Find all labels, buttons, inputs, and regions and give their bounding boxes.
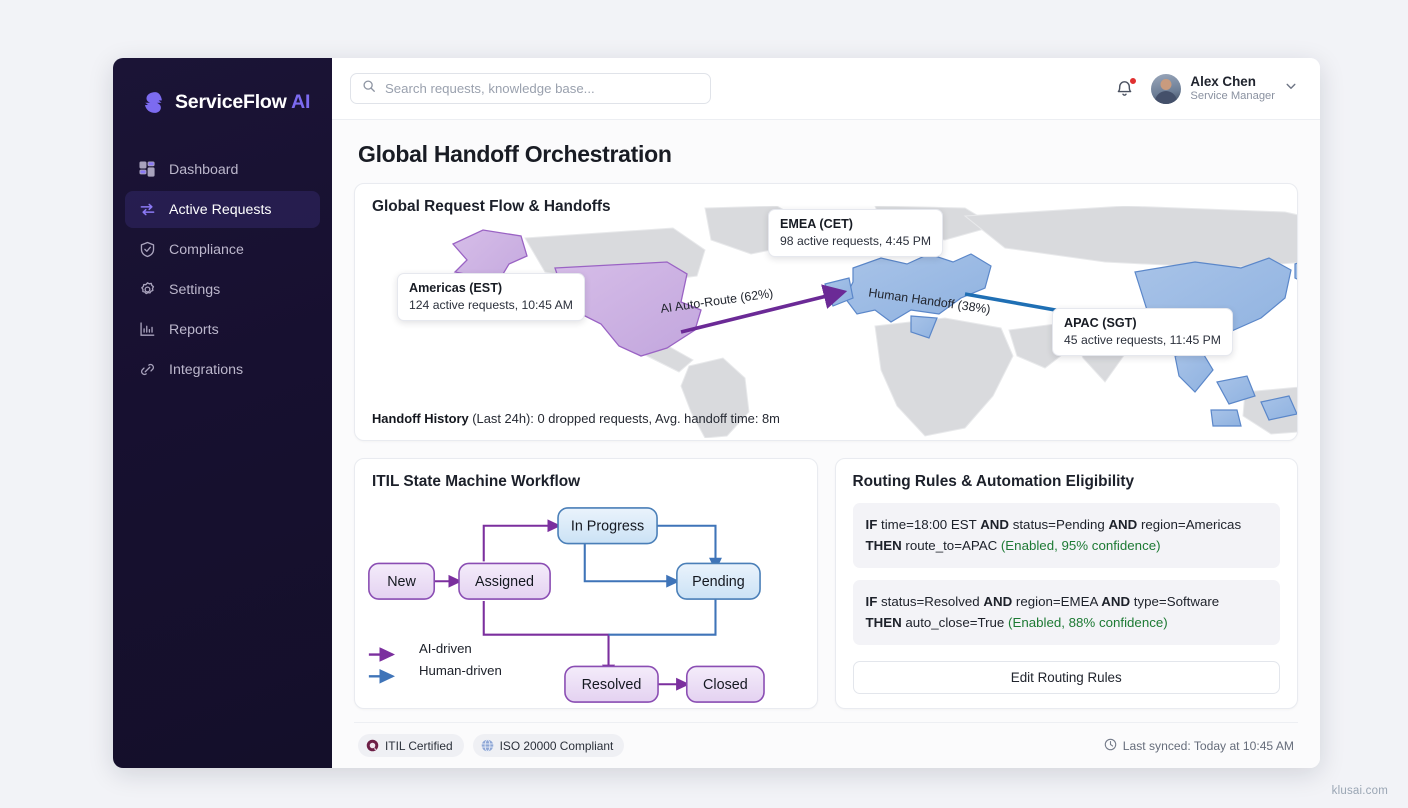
sidebar-item-compliance[interactable]: Compliance (125, 231, 320, 268)
brand-name: ServiceFlow AI (175, 91, 310, 114)
edit-routing-rules-button[interactable]: Edit Routing Rules (853, 661, 1281, 694)
user-meta: Alex Chen Service Manager (1190, 74, 1275, 103)
sidebar-item-reports[interactable]: Reports (125, 311, 320, 348)
brand-name-text: ServiceFlow (175, 91, 287, 113)
bar-chart-icon (138, 321, 156, 339)
sidebar-item-active-requests[interactable]: Active Requests (125, 191, 320, 228)
callout-subtitle: 124 active requests, 10:45 AM (409, 297, 573, 313)
rule-and-keyword: AND (1108, 517, 1137, 532)
sidebar-item-integrations[interactable]: Integrations (125, 351, 320, 388)
legend-human-driven-label: Human-driven (419, 663, 502, 678)
bottom-row: ITIL State Machine Workflow (354, 458, 1298, 709)
rule-and-keyword: AND (1101, 594, 1130, 609)
sidebar-item-dashboard[interactable]: Dashboard (125, 151, 320, 188)
brand[interactable]: ServiceFlow AI (113, 80, 332, 124)
last-synced-status: Last synced: Today at 10:45 AM (1104, 738, 1294, 754)
sidebar-item-label: Integrations (169, 362, 243, 378)
sidebar: ServiceFlow AI Dashboard (113, 58, 332, 768)
rule-status: (Enabled, 95% confidence) (1001, 538, 1161, 553)
svg-text:New: New (387, 574, 416, 590)
sidebar-item-label: Reports (169, 322, 219, 338)
user-role: Service Manager (1190, 90, 1275, 103)
badge-iso-20000[interactable]: ISO 20000 Compliant (473, 734, 625, 757)
itil-workflow-card: ITIL State Machine Workflow (354, 458, 818, 709)
last-synced-text: Last synced: Today at 10:45 AM (1123, 739, 1294, 753)
rule-and-keyword: AND (983, 594, 1012, 609)
rule-then-keyword: THEN (866, 538, 902, 553)
grid-icon (138, 161, 156, 179)
badge-itil-certified[interactable]: ITIL Certified (358, 734, 464, 757)
rule-action: route_to=APAC (902, 538, 1001, 553)
legend-ai-driven-label: AI-driven (419, 641, 472, 656)
clock-icon (1104, 738, 1117, 754)
rule-condition-line: IF status=Resolved AND region=EMEA AND t… (866, 591, 1268, 613)
rule-status: (Enabled, 88% confidence) (1008, 615, 1168, 630)
topbar-right: Alex Chen Service Manager (1114, 74, 1298, 104)
rule-condition-3: region=Americas (1137, 517, 1241, 532)
handoff-history: Handoff History (Last 24h): 0 dropped re… (372, 411, 780, 426)
itil-seal-icon (366, 739, 379, 752)
rule-condition-2: status=Pending (1009, 517, 1108, 532)
watermark: klusai.com (1332, 785, 1388, 797)
callout-subtitle: 45 active requests, 11:45 PM (1064, 332, 1221, 348)
gear-icon (138, 281, 156, 299)
svg-text:Assigned: Assigned (475, 574, 534, 590)
rule-item[interactable]: IF time=18:00 EST AND status=Pending AND… (853, 503, 1281, 568)
search-bar[interactable] (350, 73, 711, 104)
routing-rules-card: Routing Rules & Automation Eligibility I… (835, 458, 1299, 709)
map-stage: Global Request Flow & Handoffs Americas … (355, 184, 1297, 440)
callout-title: APAC (SGT) (1064, 315, 1221, 332)
shield-check-icon (138, 241, 156, 259)
topbar: Alex Chen Service Manager (332, 58, 1320, 120)
badge-label: ISO 20000 Compliant (500, 739, 614, 753)
rule-if-keyword: IF (866, 594, 878, 609)
rule-action-line: THEN auto_close=True (Enabled, 88% confi… (866, 612, 1268, 634)
svg-text:Closed: Closed (703, 677, 748, 693)
footer: ITIL Certified ISO 20000 Compliant (354, 722, 1298, 768)
rule-condition-line: IF time=18:00 EST AND status=Pending AND… (866, 514, 1268, 536)
avatar (1151, 74, 1181, 104)
rule-action: auto_close=True (902, 615, 1008, 630)
chevron-down-icon[interactable] (1284, 79, 1298, 98)
search-input[interactable] (385, 81, 699, 96)
rules-card-title: Routing Rules & Automation Eligibility (853, 473, 1281, 491)
callout-title: EMEA (CET) (780, 216, 931, 233)
svg-text:Resolved: Resolved (582, 677, 642, 693)
sidebar-nav: Dashboard Active Requests (113, 151, 332, 388)
notifications-button[interactable] (1114, 78, 1136, 100)
workflow-card-title: ITIL State Machine Workflow (372, 473, 800, 491)
rule-then-keyword: THEN (866, 615, 902, 630)
rule-condition-1: status=Resolved (877, 594, 983, 609)
callout-title: Americas (EST) (409, 280, 573, 297)
map-card-title: Global Request Flow & Handoffs (372, 198, 611, 216)
user-name: Alex Chen (1190, 74, 1275, 90)
rule-condition-1: time=18:00 EST (877, 517, 980, 532)
page-title: Global Handoff Orchestration (358, 141, 1298, 168)
callout-emea[interactable]: EMEA (CET) 98 active requests, 4:45 PM (768, 209, 943, 257)
rule-item[interactable]: IF status=Resolved AND region=EMEA AND t… (853, 580, 1281, 645)
rule-condition-3: type=Software (1130, 594, 1219, 609)
lightning-s-logo-icon (139, 90, 164, 115)
content-area: Global Handoff Orchestration (332, 120, 1320, 768)
callout-subtitle: 98 active requests, 4:45 PM (780, 233, 931, 249)
app-window: ServiceFlow AI Dashboard (113, 58, 1320, 768)
handoff-history-label: Handoff History (372, 411, 469, 426)
main-area: Alex Chen Service Manager Global Handoff… (332, 58, 1320, 768)
sidebar-item-label: Compliance (169, 242, 244, 258)
sidebar-item-label: Dashboard (169, 162, 238, 178)
callout-americas[interactable]: Americas (EST) 124 active requests, 10:4… (397, 273, 585, 321)
sidebar-item-label: Active Requests (169, 202, 272, 218)
link-icon (138, 361, 156, 379)
svg-text:In Progress: In Progress (571, 518, 644, 534)
notification-badge-dot (1129, 77, 1137, 85)
rule-action-line: THEN route_to=APAC (Enabled, 95% confide… (866, 535, 1268, 557)
sidebar-item-settings[interactable]: Settings (125, 271, 320, 308)
iso-globe-icon (481, 739, 494, 752)
handoff-history-text: (Last 24h): 0 dropped requests, Avg. han… (469, 411, 780, 426)
rule-condition-2: region=EMEA (1012, 594, 1101, 609)
brand-suffix-text: AI (291, 91, 310, 113)
sidebar-item-label: Settings (169, 282, 220, 298)
rule-and-keyword: AND (980, 517, 1009, 532)
search-icon (362, 79, 376, 98)
callout-apac[interactable]: APAC (SGT) 45 active requests, 11:45 PM (1052, 308, 1233, 356)
badge-label: ITIL Certified (385, 739, 453, 753)
rule-if-keyword: IF (866, 517, 878, 532)
transfer-arrows-icon (138, 201, 156, 219)
compliance-badges: ITIL Certified ISO 20000 Compliant (358, 734, 624, 757)
user-menu[interactable]: Alex Chen Service Manager (1151, 74, 1298, 104)
svg-text:Pending: Pending (692, 574, 745, 590)
global-request-flow-card: Global Request Flow & Handoffs Americas … (354, 183, 1298, 441)
